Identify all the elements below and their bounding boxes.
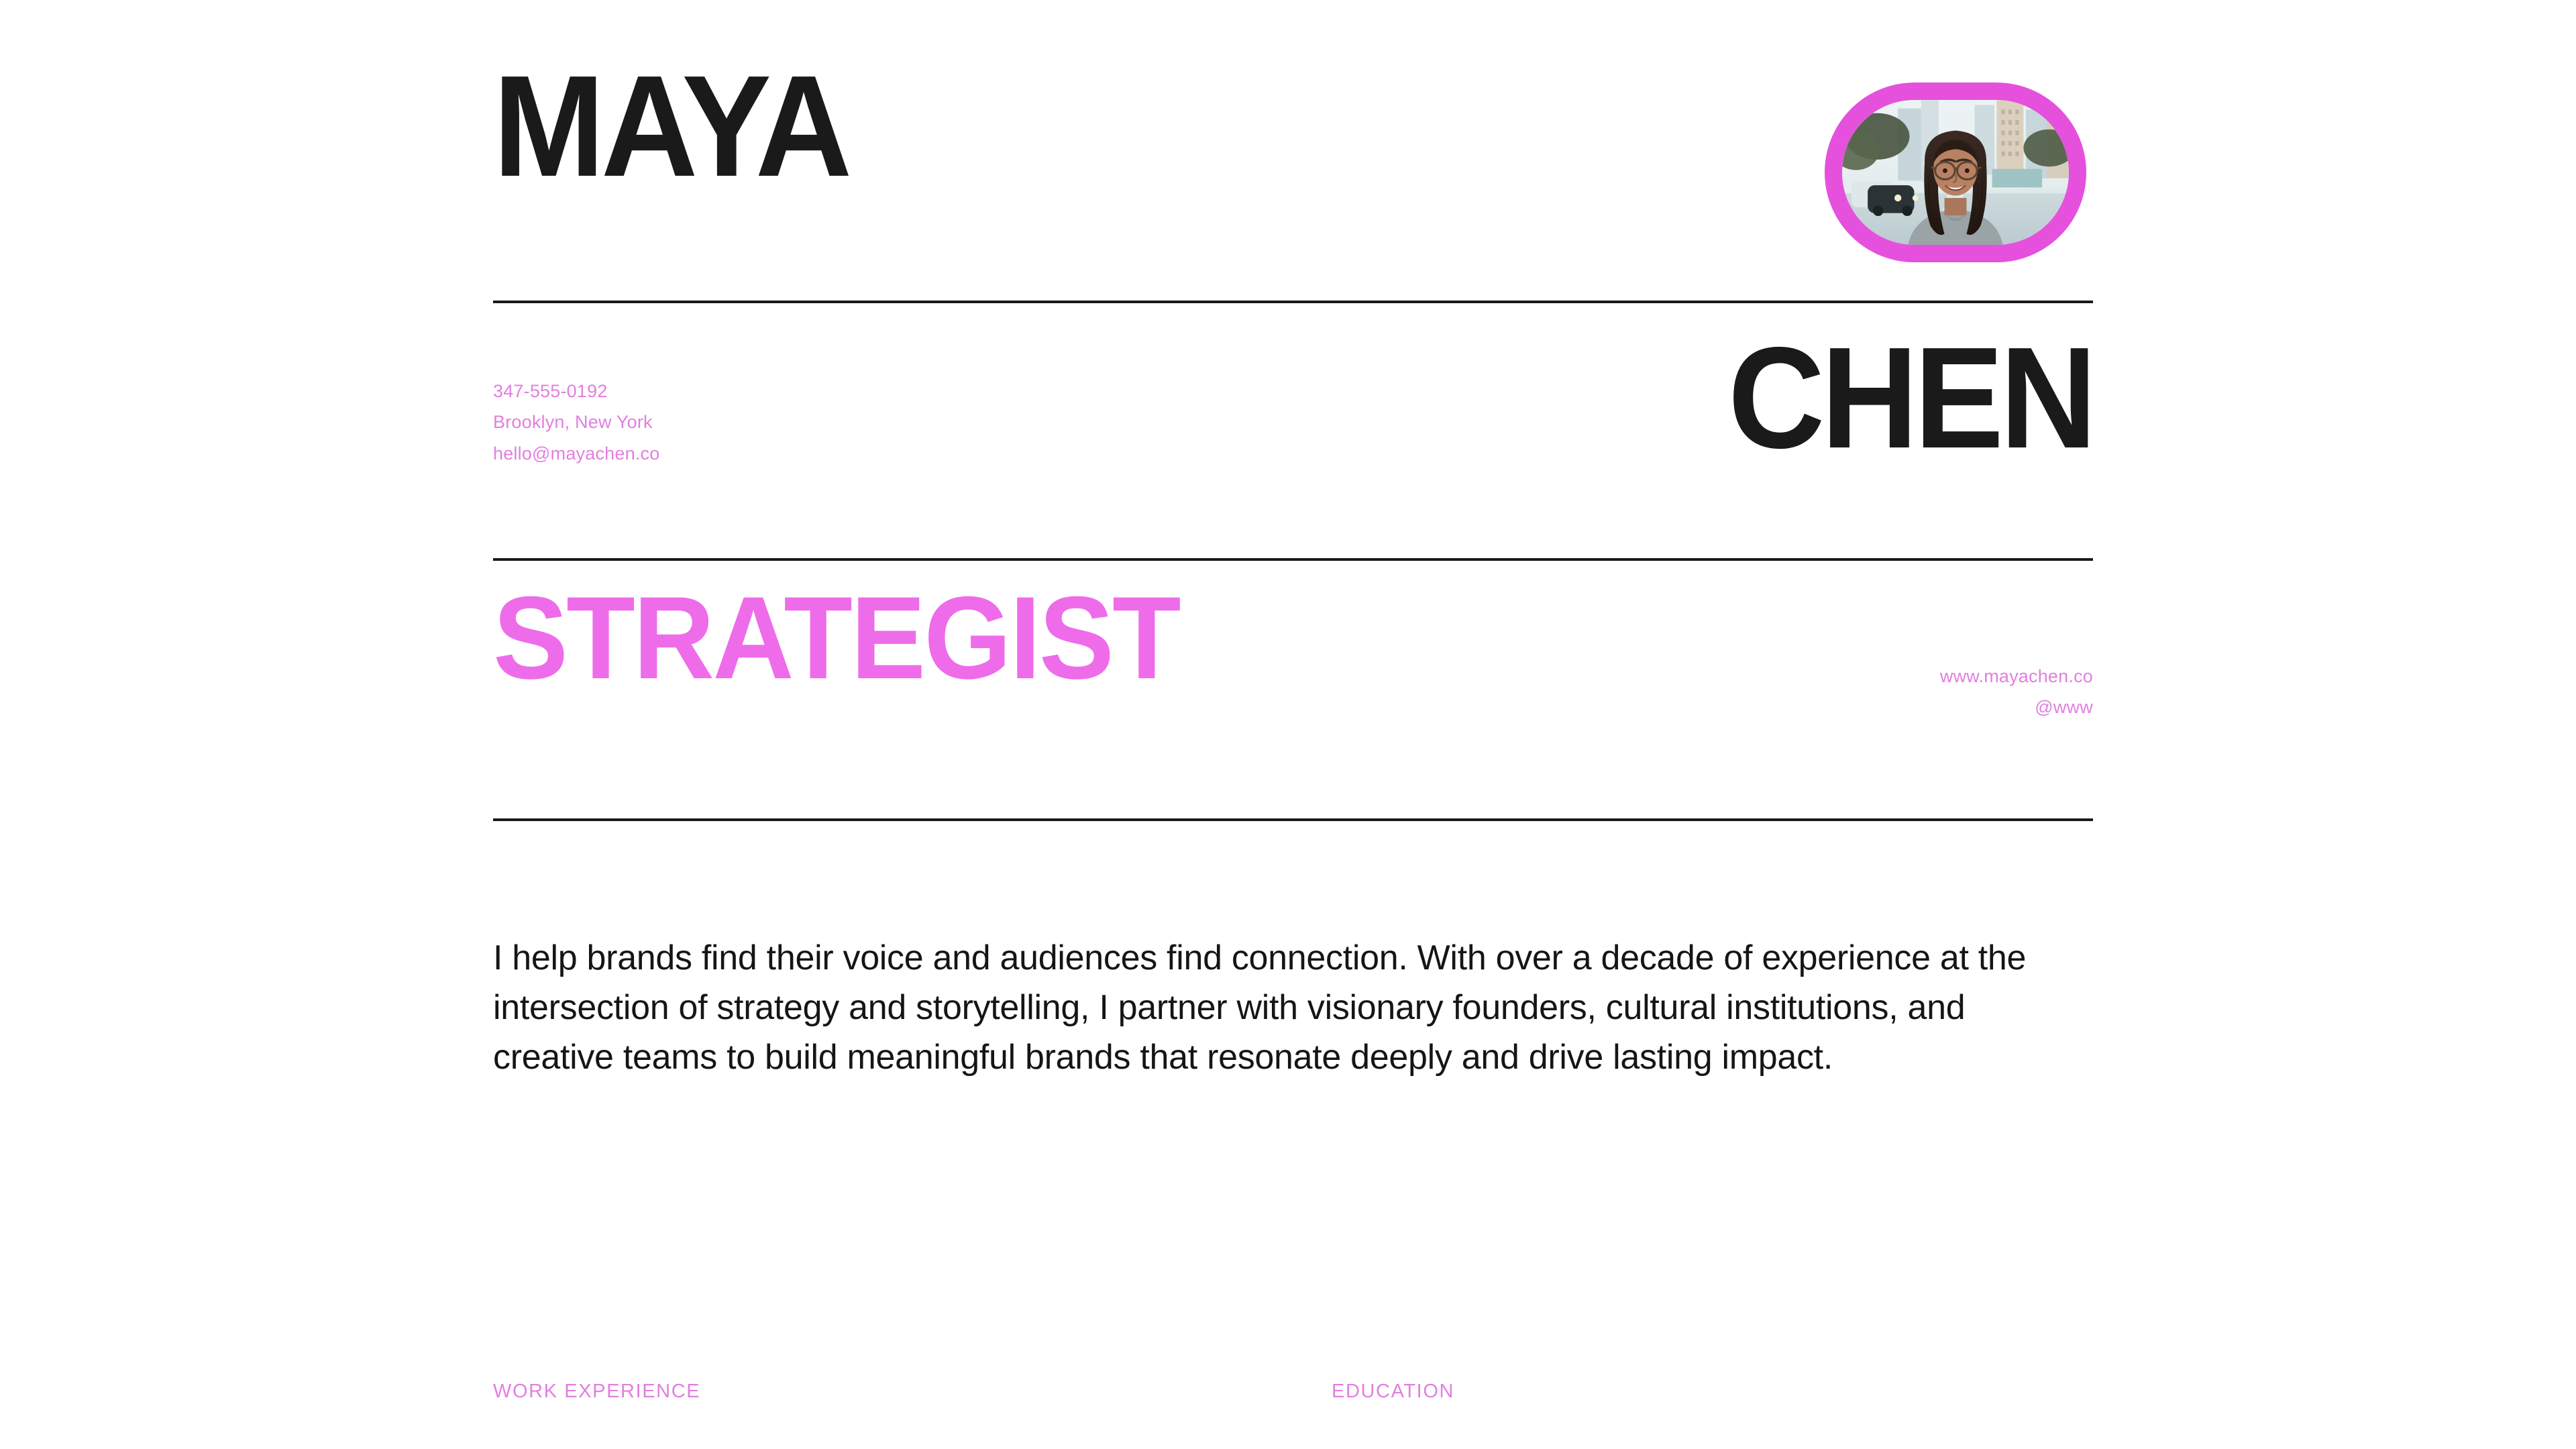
divider-1 [493,301,2093,303]
page-title-last-name: CHEN [1728,339,2093,457]
section-headings-row: WORK EXPERIENCE EDUCATION [493,1381,2093,1421]
content-column: MAYA [493,0,2093,1449]
page-title-role: STRATEGIST [493,590,1179,687]
page-title-first-name: MAYA [493,67,849,185]
header-row: MAYA [493,59,2093,260]
contact-email[interactable]: hello@mayachen.co [493,438,659,469]
links-block: www.mayachen.co @www [1940,661,2093,723]
contact-phone[interactable]: 347-555-0192 [493,376,659,407]
link-social[interactable]: @www [1940,692,2093,722]
section-heading-education: EDUCATION [1332,1381,1454,1403]
resume-page: MAYA [0,0,2576,1449]
divider-2 [493,558,2093,561]
section-heading-work-experience: WORK EXPERIENCE [493,1381,700,1403]
avatar-frame [1825,83,2086,262]
contact-location: Brooklyn, New York [493,407,659,437]
contact-block: 347-555-0192 Brooklyn, New York hello@ma… [493,376,659,469]
link-website[interactable]: www.mayachen.co [1940,661,2093,692]
portrait-photo-icon [1842,100,2069,245]
divider-3 [493,818,2093,821]
avatar [1825,83,2086,262]
profile-summary: I help brands find their voice and audie… [493,934,2093,1082]
